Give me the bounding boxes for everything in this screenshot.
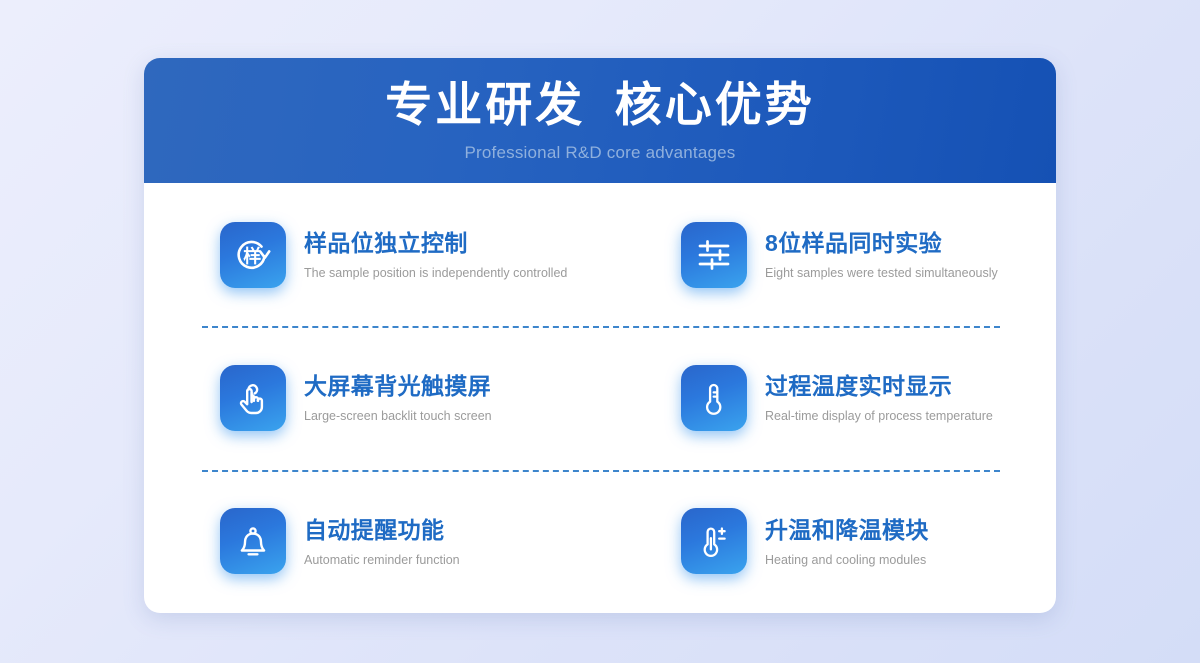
feature-description: The sample position is independently con… [304,258,567,281]
page-root: 专业研发 核心优势 Professional R&D core advantag… [0,0,1200,663]
feature-item-heating-cooling[interactable]: 升温和降温模块 Heating and cooling modules [657,508,998,574]
feature-text: 自动提醒功能 Automatic reminder function [286,515,460,568]
feature-description: Heating and cooling modules [765,545,929,568]
feature-title: 升温和降温模块 [765,515,929,545]
advantages-card: 专业研发 核心优势 Professional R&D core advantag… [144,58,1056,613]
feature-title: 自动提醒功能 [304,515,460,545]
feature-text: 过程温度实时显示 Real-time display of process te… [747,371,993,424]
thermometer-icon [681,365,747,431]
feature-title: 样品位独立控制 [304,228,567,258]
touch-hand-icon [220,365,286,431]
feature-description: Real-time display of process temperature [765,401,993,424]
feature-text: 8位样品同时实验 Eight samples were tested simul… [747,228,998,281]
feature-row: 自动提醒功能 Automatic reminder function [202,470,998,613]
features-grid: 样 样品位独立控制 The sample position is indepen… [144,183,1056,613]
feature-item-eight-samples[interactable]: 8位样品同时实验 Eight samples were tested simul… [657,222,998,288]
feature-item-sample-position[interactable]: 样 样品位独立控制 The sample position is indepen… [202,222,657,288]
feature-row: 大屏幕背光触摸屏 Large-screen backlit touch scre… [202,326,998,469]
feature-text: 升温和降温模块 Heating and cooling modules [747,515,929,568]
feature-item-process-temperature[interactable]: 过程温度实时显示 Real-time display of process te… [657,365,998,431]
feature-item-auto-reminder[interactable]: 自动提醒功能 Automatic reminder function [202,508,657,574]
page-title: 专业研发 核心优势 [144,58,1056,136]
feature-title: 8位样品同时实验 [765,228,998,258]
feature-text: 大屏幕背光触摸屏 Large-screen backlit touch scre… [286,371,492,424]
feature-description: Eight samples were tested simultaneously [765,258,998,281]
page-subtitle: Professional R&D core advantages [144,136,1056,164]
feature-description: Automatic reminder function [304,545,460,568]
banner-header: 专业研发 核心优势 Professional R&D core advantag… [144,58,1056,183]
feature-title: 过程温度实时显示 [765,371,993,401]
feature-row: 样 样品位独立控制 The sample position is indepen… [202,183,998,326]
feature-title: 大屏幕背光触摸屏 [304,371,492,401]
sample-rotate-icon: 样 [220,222,286,288]
feature-description: Large-screen backlit touch screen [304,401,492,424]
feature-text: 样品位独立控制 The sample position is independe… [286,228,567,281]
thermometer-plus-minus-icon [681,508,747,574]
svg-text:样: 样 [243,245,261,266]
feature-item-touch-screen[interactable]: 大屏幕背光触摸屏 Large-screen backlit touch scre… [202,365,657,431]
bell-icon [220,508,286,574]
sliders-icon [681,222,747,288]
